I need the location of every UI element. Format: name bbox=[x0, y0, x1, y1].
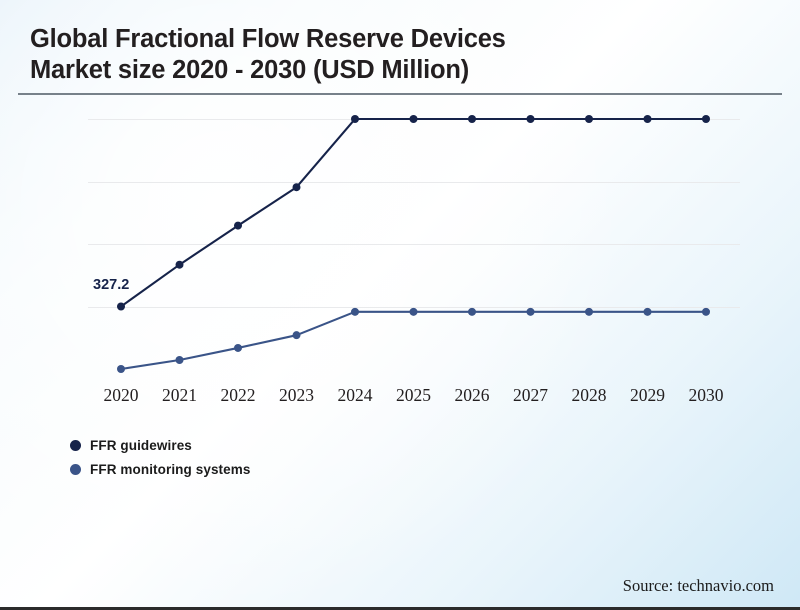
data-point-marker[interactable] bbox=[293, 183, 301, 191]
data-point-marker[interactable] bbox=[468, 308, 476, 316]
gridlines-group bbox=[88, 120, 740, 308]
x-axis-tick-2030: 2030 bbox=[675, 385, 737, 406]
data-point-marker[interactable] bbox=[585, 115, 593, 123]
data-point-marker[interactable] bbox=[585, 308, 593, 316]
x-axis-tick-2026: 2026 bbox=[441, 385, 503, 406]
data-point-marker[interactable] bbox=[644, 115, 652, 123]
legend-item-1[interactable]: FFR monitoring systems bbox=[70, 457, 250, 481]
data-point-marker[interactable] bbox=[117, 365, 125, 373]
data-point-marker[interactable] bbox=[527, 308, 535, 316]
data-point-marker[interactable] bbox=[468, 115, 476, 123]
legend-dot-icon bbox=[70, 440, 81, 451]
x-axis-tick-2027: 2027 bbox=[500, 385, 562, 406]
legend-item-label: FFR monitoring systems bbox=[90, 462, 250, 477]
x-axis-tick-2023: 2023 bbox=[266, 385, 328, 406]
data-point-marker[interactable] bbox=[176, 261, 184, 269]
data-point-marker[interactable] bbox=[527, 115, 535, 123]
source-attribution: Source: technavio.com bbox=[623, 576, 774, 596]
data-point-marker[interactable] bbox=[176, 356, 184, 364]
legend-item-0[interactable]: FFR guidewires bbox=[70, 433, 250, 457]
x-axis-tick-labels: 2020202120222023202420252026202720282029… bbox=[0, 385, 800, 415]
plot-area: 327.2 bbox=[0, 0, 800, 440]
data-point-marker[interactable] bbox=[293, 331, 301, 339]
data-point-marker[interactable] bbox=[410, 308, 418, 316]
line-chart-svg bbox=[0, 0, 800, 440]
x-axis-tick-2021: 2021 bbox=[149, 385, 211, 406]
legend-dot-icon bbox=[70, 464, 81, 475]
x-axis-tick-2029: 2029 bbox=[617, 385, 679, 406]
x-axis-tick-2025: 2025 bbox=[383, 385, 445, 406]
data-point-marker[interactable] bbox=[234, 344, 242, 352]
x-axis-tick-2024: 2024 bbox=[324, 385, 386, 406]
data-point-marker[interactable] bbox=[702, 308, 710, 316]
x-axis-tick-2020: 2020 bbox=[90, 385, 152, 406]
data-point-marker[interactable] bbox=[702, 115, 710, 123]
data-point-marker[interactable] bbox=[234, 222, 242, 230]
data-point-label: 327.2 bbox=[93, 277, 129, 293]
x-axis-tick-2028: 2028 bbox=[558, 385, 620, 406]
legend-item-label: FFR guidewires bbox=[90, 438, 192, 453]
data-point-marker[interactable] bbox=[351, 115, 359, 123]
data-point-marker[interactable] bbox=[644, 308, 652, 316]
series-line-1 bbox=[121, 312, 706, 369]
data-point-marker[interactable] bbox=[117, 303, 125, 311]
chart-legend: FFR guidewiresFFR monitoring systems bbox=[70, 433, 250, 481]
data-point-marker[interactable] bbox=[410, 115, 418, 123]
data-point-marker[interactable] bbox=[351, 308, 359, 316]
series-line-0 bbox=[121, 119, 706, 307]
chart-canvas: Global Fractional Flow Reserve Devices M… bbox=[0, 0, 800, 610]
x-axis-tick-2022: 2022 bbox=[207, 385, 269, 406]
